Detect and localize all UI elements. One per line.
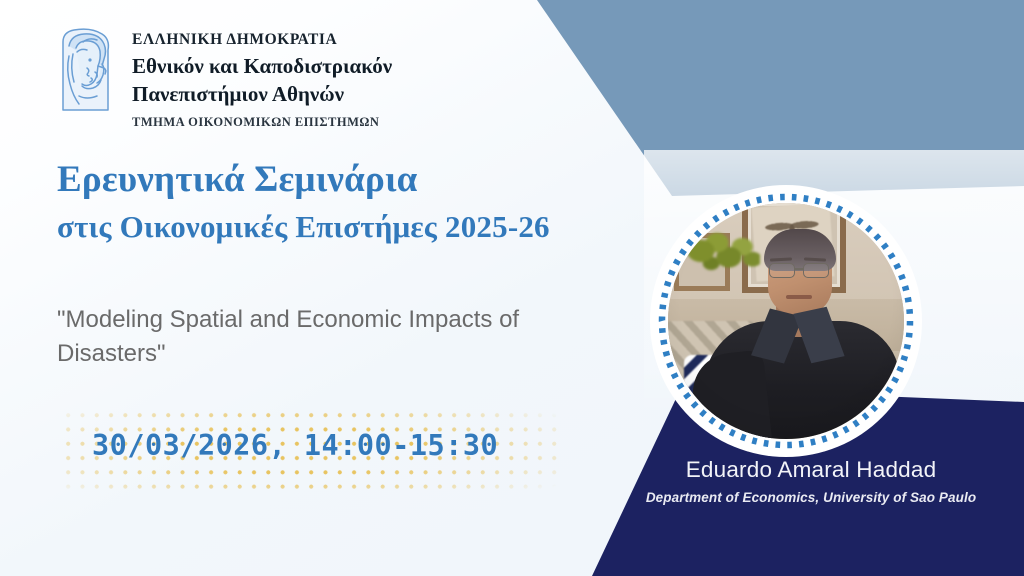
talk-title: "Modeling Spatial and Economic Impacts o… <box>57 303 617 371</box>
seminar-series-title: Ερευνητικά Σεμινάρια στις Οικονομικές Επ… <box>57 158 657 245</box>
brand-department-line: ΤΜΗΜΑ ΟΙΚΟΝΟΜΙΚΩΝ ΕΠΙΣΤΗΜΩΝ <box>132 114 392 132</box>
schedule-band: 30/03/2026, 14:00-15:30 <box>58 404 558 496</box>
university-branding: ΕΛΛΗΝΙΚΗ ΔΗΜΟΚΡΑΤΙΑ Εθνικόν και Καποδιστ… <box>57 26 392 131</box>
speaker-name: Eduardo Amaral Haddad <box>598 455 1024 484</box>
speaker-affiliation: Department of Economics, University of S… <box>598 490 1024 505</box>
brand-university-line: Εθνικόν και Καποδιστριακόν Πανεπιστήμιον… <box>132 53 392 109</box>
athena-head-emblem <box>57 26 114 114</box>
seminar-poster: ΕΛΛΗΝΙΚΗ ΔΗΜΟΚΡΑΤΙΑ Εθνικόν και Καποδιστ… <box>0 0 1024 576</box>
series-title-line-2: στις Οικονομικές Επιστήμες 2025-26 <box>57 208 657 245</box>
university-name-block: ΕΛΛΗΝΙΚΗ ΔΗΜΟΚΡΑΤΙΑ Εθνικόν και Καποδιστ… <box>132 26 392 131</box>
speaker-portrait-photo <box>668 203 904 439</box>
speaker-caption: Eduardo Amaral Haddad Department of Econ… <box>598 455 1024 505</box>
schedule-datetime: 30/03/2026, 14:00-15:30 <box>92 429 498 462</box>
series-title-line-1: Ερευνητικά Σεμινάρια <box>57 158 657 202</box>
speaker-portrait <box>650 185 922 457</box>
brand-republic-line: ΕΛΛΗΝΙΚΗ ΔΗΜΟΚΡΑΤΙΑ <box>132 30 392 51</box>
